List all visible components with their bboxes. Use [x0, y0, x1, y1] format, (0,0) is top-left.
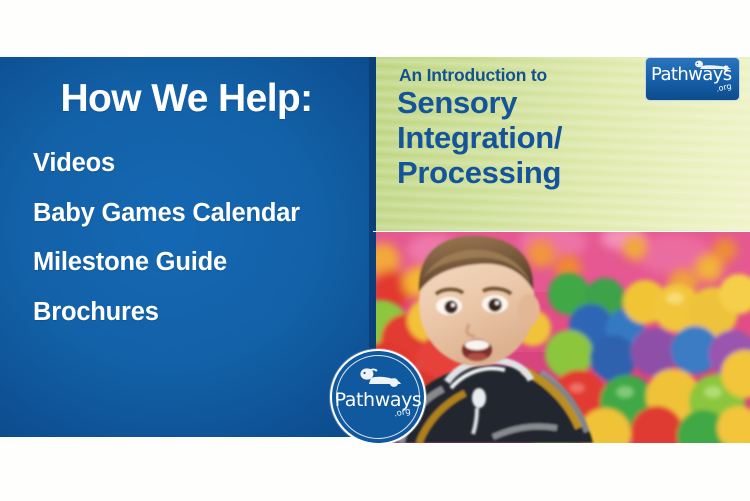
main-title: Sensory Integration/ Processing: [397, 85, 562, 190]
slide-root: How We Help: Videos Baby Games Calendar …: [0, 0, 750, 501]
pathways-badge: Pathways .org: [330, 349, 426, 445]
list-item: Milestone Guide: [33, 250, 355, 276]
photo-ball-pit: [373, 232, 750, 443]
page-title: How We Help:: [0, 79, 373, 118]
list-item: Baby Games Calendar: [33, 201, 355, 227]
list-item: Videos: [33, 151, 355, 177]
how-we-help-panel: How We Help: Videos Baby Games Calendar …: [0, 57, 373, 437]
pathways-logo: Pathways .org: [645, 57, 740, 101]
eyebrow-text: An Introduction to: [399, 65, 547, 86]
ball-pit-photo: [373, 232, 750, 443]
badge-wordmark: Pathways: [332, 389, 424, 411]
baby-crawling-icon: [356, 367, 402, 389]
title-line: Integration/: [397, 120, 562, 155]
frame-top: [0, 0, 750, 57]
logo-wordmark: Pathways: [651, 66, 732, 84]
logo-suffix: .org: [716, 81, 733, 93]
sensory-intro-panel: An Introduction to Sensory Integration/ …: [373, 57, 750, 443]
title-line: Processing: [397, 155, 562, 190]
frame-bottom: [0, 443, 750, 501]
title-line: Sensory: [397, 85, 562, 120]
title-header: An Introduction to Sensory Integration/ …: [373, 57, 750, 231]
list-item: Brochures: [33, 300, 355, 326]
help-list: Videos Baby Games Calendar Milestone Gui…: [33, 151, 355, 349]
